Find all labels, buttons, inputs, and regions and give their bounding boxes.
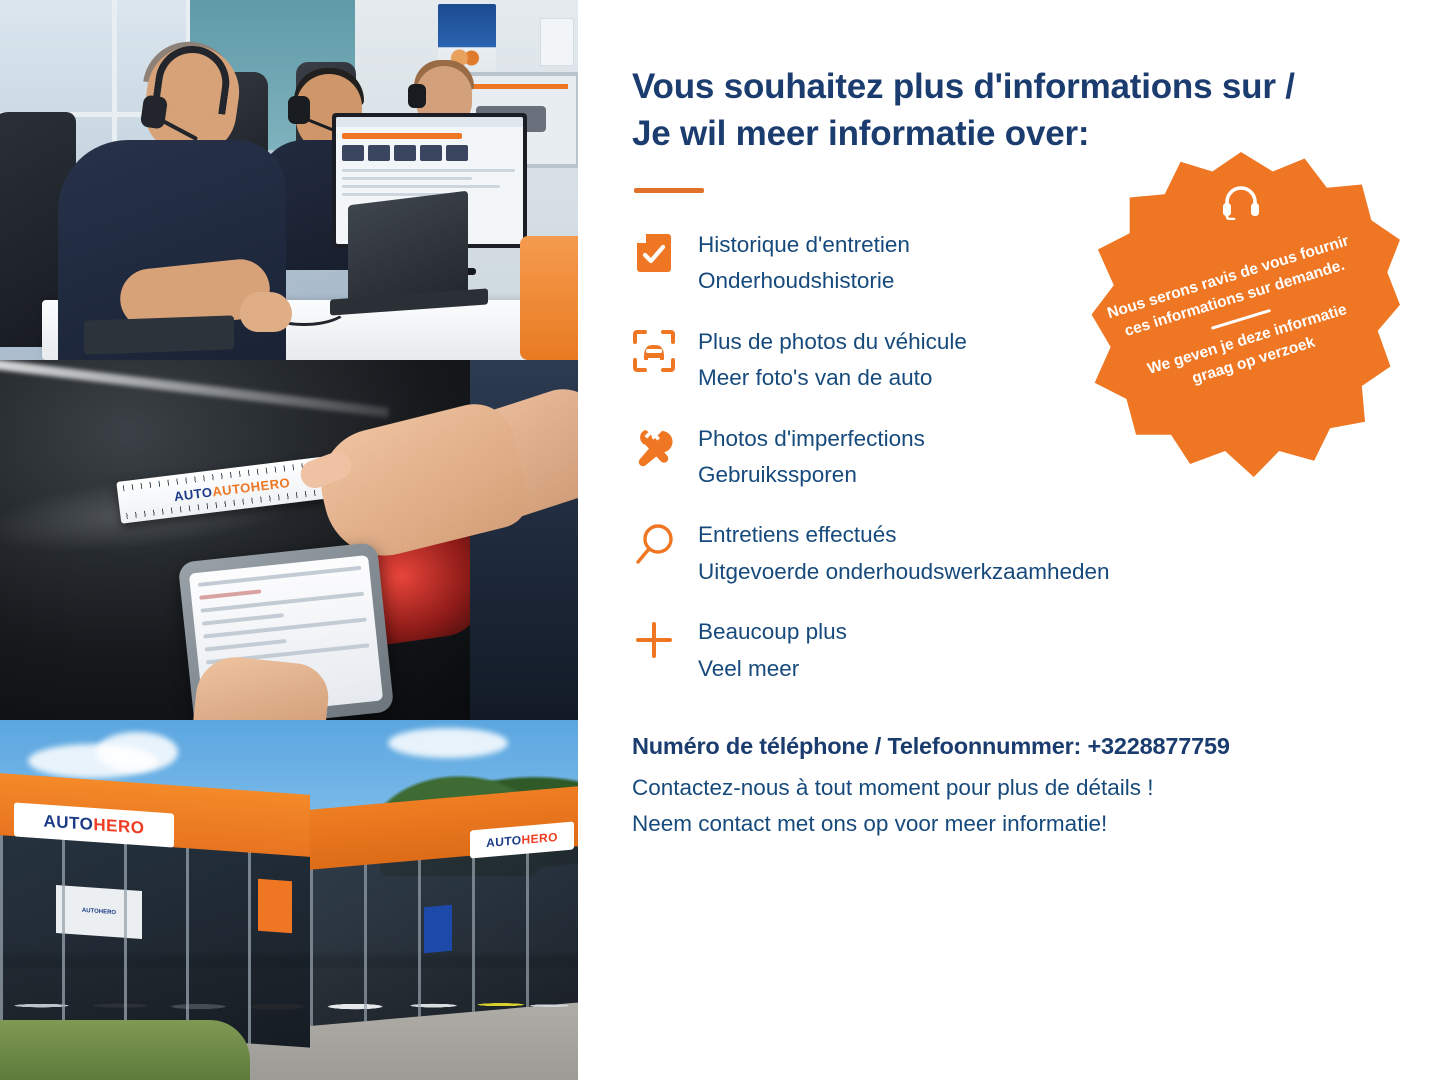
contact-line-fr: Contactez-nous à tout moment pour plus d… <box>632 770 1384 806</box>
feature-label-fr: Plus de photos du véhicule <box>698 329 967 354</box>
infographic-page: AUTOAUTOHERO AUTOHERO <box>0 0 1440 1080</box>
tools-icon <box>632 421 676 469</box>
feature-label-nl: Onderhoudshistorie <box>698 263 910 299</box>
desk-tablet <box>84 315 234 354</box>
orange-chair <box>520 236 578 360</box>
feature-label-fr: Photos d'imperfections <box>698 426 925 451</box>
cloud <box>96 732 178 772</box>
list-item-text: Entretiens effectués Uitgevoerde onderho… <box>698 517 1110 590</box>
vehicle-inspection-photo: AUTOAUTOHERO <box>0 360 578 720</box>
headset-icon <box>1221 184 1261 225</box>
feature-label-fr: Historique d'entretien <box>698 232 910 257</box>
headline-line-nl: Je wil meer informatie over: <box>632 114 1089 153</box>
plus-icon <box>632 614 676 660</box>
laptop <box>330 198 470 310</box>
magnifier-icon <box>632 517 676 565</box>
cloud <box>388 728 508 758</box>
list-item-text: Photos d'imperfections Gebruikssporen <box>698 421 925 494</box>
feature-label-nl: Gebruikssporen <box>698 457 925 493</box>
autohero-showroom-photo: AUTOHERO AUTOHERO AUTOHERO <box>0 720 578 1080</box>
facade-mullions-left <box>0 832 310 1048</box>
list-item: Beaucoup plus Veel meer <box>632 614 1384 687</box>
feature-label-nl: Uitgevoerde onderhoudswerkzaamheden <box>698 554 1110 590</box>
wall-notice <box>540 18 574 66</box>
car-scan-icon <box>632 324 676 372</box>
content-panel: Vous souhaitez plus d'informations sur /… <box>578 0 1440 1080</box>
feature-label-nl: Meer foto's van de auto <box>698 360 967 396</box>
feature-label-nl: Veel meer <box>698 651 847 687</box>
document-check-icon <box>632 227 676 273</box>
page-title: Vous souhaitez plus d'informations sur /… <box>632 64 1384 158</box>
contact-block: Numéro de téléphone / Telefoonnummer: +3… <box>632 733 1384 841</box>
photo-column: AUTOAUTOHERO AUTOHERO <box>0 0 578 1080</box>
grass-strip <box>0 1020 250 1080</box>
list-item: Entretiens effectués Uitgevoerde onderho… <box>632 517 1384 590</box>
feature-label-fr: Entretiens effectués <box>698 522 896 547</box>
contact-line-nl: Neem contact met ons op voor meer inform… <box>632 806 1384 842</box>
callout-badge: Nous serons ravis de vous fournir ces in… <box>1082 152 1400 477</box>
title-divider <box>634 188 704 193</box>
phone-number-label: Numéro de téléphone / Telefoonnummer: +3… <box>632 733 1384 760</box>
list-item-text: Historique d'entretien Onderhoudshistori… <box>698 227 910 300</box>
list-item-text: Beaucoup plus Veel meer <box>698 614 847 687</box>
list-item-text: Plus de photos du véhicule Meer foto's v… <box>698 324 967 397</box>
call-center-agents-photo <box>0 0 578 360</box>
headline-line-fr: Vous souhaitez plus d'informations sur / <box>632 67 1295 106</box>
feature-label-fr: Beaucoup plus <box>698 619 847 644</box>
agent-foreground <box>36 40 276 360</box>
